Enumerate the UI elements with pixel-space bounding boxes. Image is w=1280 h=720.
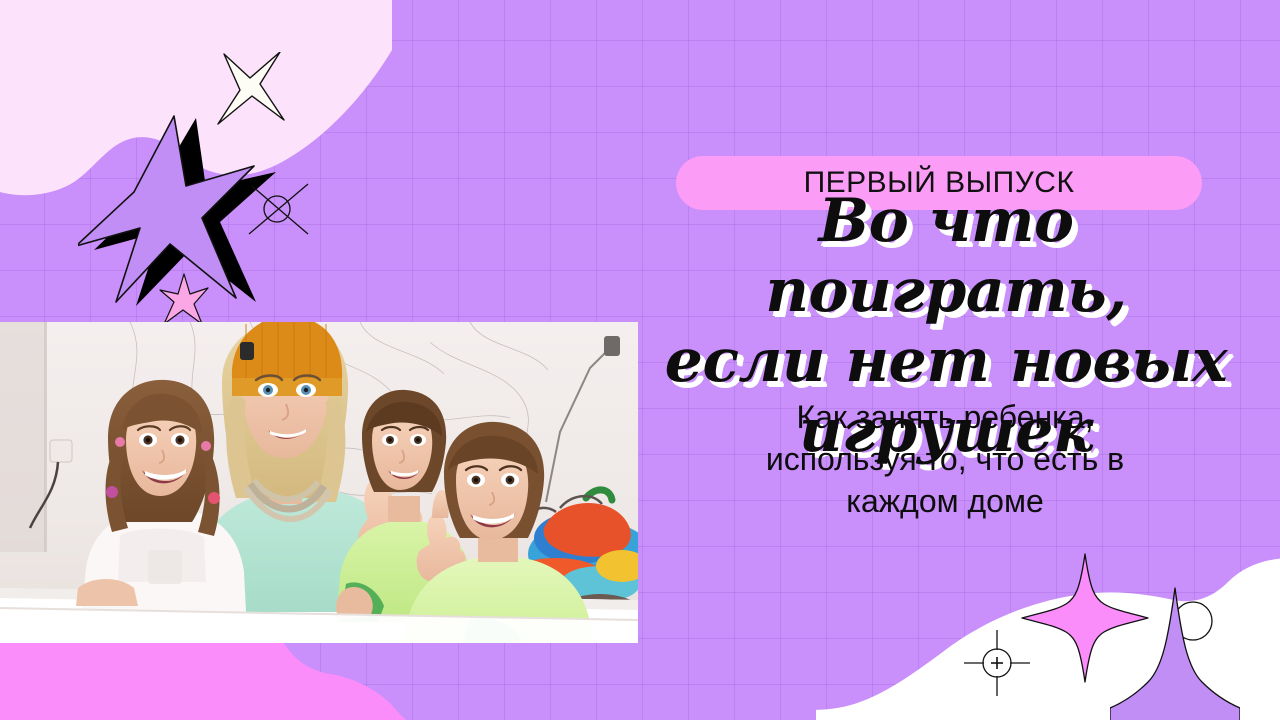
page-subtitle: Как занять ребенка, используя то, что ес… [690,396,1200,522]
slide-canvas: ПЕРВЫЙ ВЫПУСК Во что поиграть, если нет … [0,0,1280,720]
video-thumbnail-photo [0,322,638,643]
